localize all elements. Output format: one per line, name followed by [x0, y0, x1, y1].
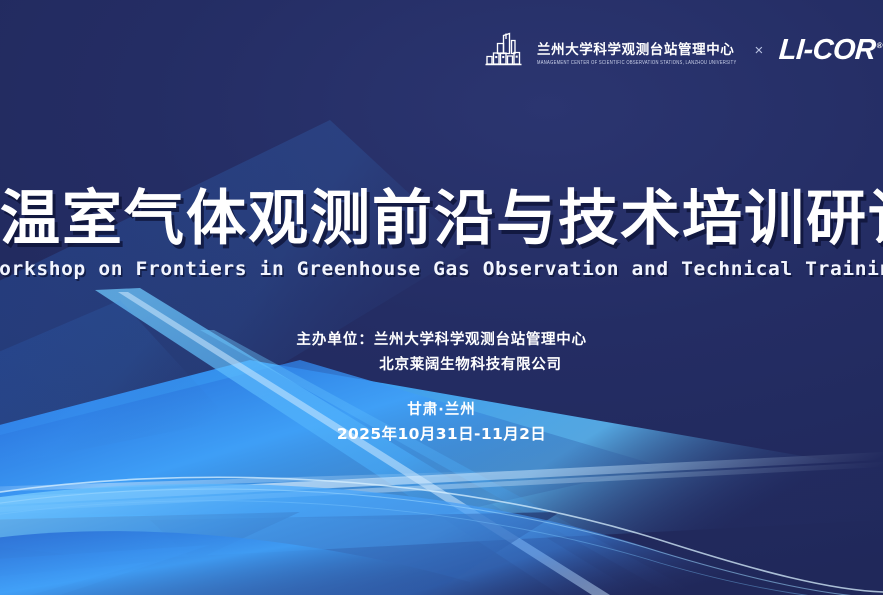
licor-wordmark: LI-COR: [778, 34, 877, 66]
poster-title-cn: 温室气体观测前沿与技术培训研讨会: [0, 186, 883, 253]
venue-location: 甘肃·兰州: [0, 398, 883, 422]
organizer-line-1: 主办单位：兰州大学科学观测台站管理中心: [0, 328, 883, 353]
lanzhou-observation-station-mark: [481, 30, 528, 70]
poster-title-en: Workshop on Frontiers in Greenhouse Gas …: [0, 258, 883, 281]
university-name-cn: 兰州大学科学观测台站管理中心: [537, 43, 737, 58]
organizer-name-1: 兰州大学科学观测台站管理中心: [374, 332, 587, 348]
licor-trademark-icon: ®: [877, 41, 883, 50]
university-name-en: MANAGEMENT CENTER OF SCIENTIFIC OBSERVAT…: [537, 60, 737, 66]
logo-separator-x: ×: [755, 43, 764, 58]
header-logo-lockup: 兰州大学科学观测台站管理中心 MANAGEMENT CENTER OF SCIE…: [481, 30, 882, 70]
venue-date: 2025年10月31日-11月2日: [0, 422, 883, 446]
licor-logo: LI-COR®: [779, 36, 882, 65]
background-ribbon-artwork: [0, 0, 883, 595]
venue-block: 甘肃·兰州 2025年10月31日-11月2日: [0, 398, 883, 446]
organizer-line-2: 北京莱阔生物科技有限公司: [0, 353, 883, 378]
conference-poster: 兰州大学科学观测台站管理中心 MANAGEMENT CENTER OF SCIE…: [0, 0, 883, 595]
organizer-name-2: 北京莱阔生物科技有限公司: [379, 357, 561, 373]
lanzhou-university-logo: 兰州大学科学观测台站管理中心 MANAGEMENT CENTER OF SCIE…: [481, 30, 737, 70]
organizers-label: 主办单位：: [296, 332, 374, 348]
organizers-block: 主办单位：兰州大学科学观测台站管理中心 北京莱阔生物科技有限公司: [0, 328, 883, 378]
lanzhou-university-name-block: 兰州大学科学观测台站管理中心 MANAGEMENT CENTER OF SCIE…: [537, 35, 737, 64]
